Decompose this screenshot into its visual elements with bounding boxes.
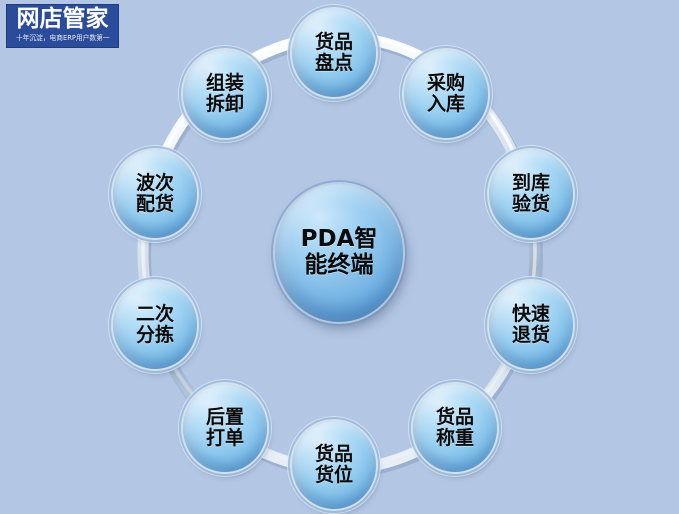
node-label-line2: 入库 bbox=[427, 94, 465, 115]
node-label-line2: 配货 bbox=[136, 194, 174, 215]
node-label-line1: 货品 bbox=[315, 444, 353, 465]
node-inventory-count[interactable]: 货品 盘点 bbox=[292, 9, 376, 97]
node-label-line1: 采购 bbox=[427, 73, 465, 94]
node-label-line2: 退货 bbox=[512, 325, 550, 346]
node-goods-weighing[interactable]: 货品 称重 bbox=[413, 384, 497, 472]
node-label-line1: 快速 bbox=[512, 304, 550, 325]
node-post-printing[interactable]: 后置 打单 bbox=[183, 384, 267, 472]
center-node-pda-smart-terminal[interactable]: PDA智 能终端 bbox=[275, 184, 403, 322]
node-wave-picking[interactable]: 波次 配货 bbox=[113, 150, 197, 238]
node-purchase-inbound[interactable]: 采购 入库 bbox=[404, 50, 488, 138]
node-label-line2: 盘点 bbox=[315, 53, 353, 74]
node-label-line2: 称重 bbox=[436, 428, 474, 449]
node-assemble-disassemble[interactable]: 组装 拆卸 bbox=[183, 50, 267, 138]
node-label-line1: 货品 bbox=[436, 407, 474, 428]
node-second-sorting[interactable]: 二次 分拣 bbox=[113, 281, 197, 369]
node-label-line2: 拆卸 bbox=[206, 94, 244, 115]
node-label-line1: 二次 bbox=[136, 304, 174, 325]
node-label-line2: 打单 bbox=[206, 428, 244, 449]
node-arrival-inspect[interactable]: 到库 验货 bbox=[489, 150, 573, 238]
diagram-canvas: 网店管家 十年沉淀，电商ERP用户数第一 PDA智 能终端 货品 盘 bbox=[0, 0, 679, 514]
node-label-line2: 分拣 bbox=[136, 325, 174, 346]
node-label-line2: 货位 bbox=[315, 465, 353, 486]
node-goods-location[interactable]: 货品 货位 bbox=[292, 421, 376, 509]
brand-logo-subtitle: 十年沉淀，电商ERP用户数第一 bbox=[16, 34, 110, 43]
brand-logo: 网店管家 十年沉淀，电商ERP用户数第一 bbox=[6, 4, 119, 48]
node-label-line1: 货品 bbox=[315, 32, 353, 53]
node-label-line1: 波次 bbox=[136, 173, 174, 194]
brand-logo-title: 网店管家 bbox=[17, 7, 109, 32]
center-node-line1: PDA智 bbox=[301, 227, 378, 253]
node-label-line1: 到库 bbox=[512, 173, 550, 194]
node-label-line1: 后置 bbox=[206, 407, 244, 428]
node-label-line2: 验货 bbox=[512, 194, 550, 215]
node-fast-return[interactable]: 快速 退货 bbox=[489, 281, 573, 369]
node-label-line1: 组装 bbox=[206, 73, 244, 94]
center-node-line2: 能终端 bbox=[305, 253, 374, 279]
